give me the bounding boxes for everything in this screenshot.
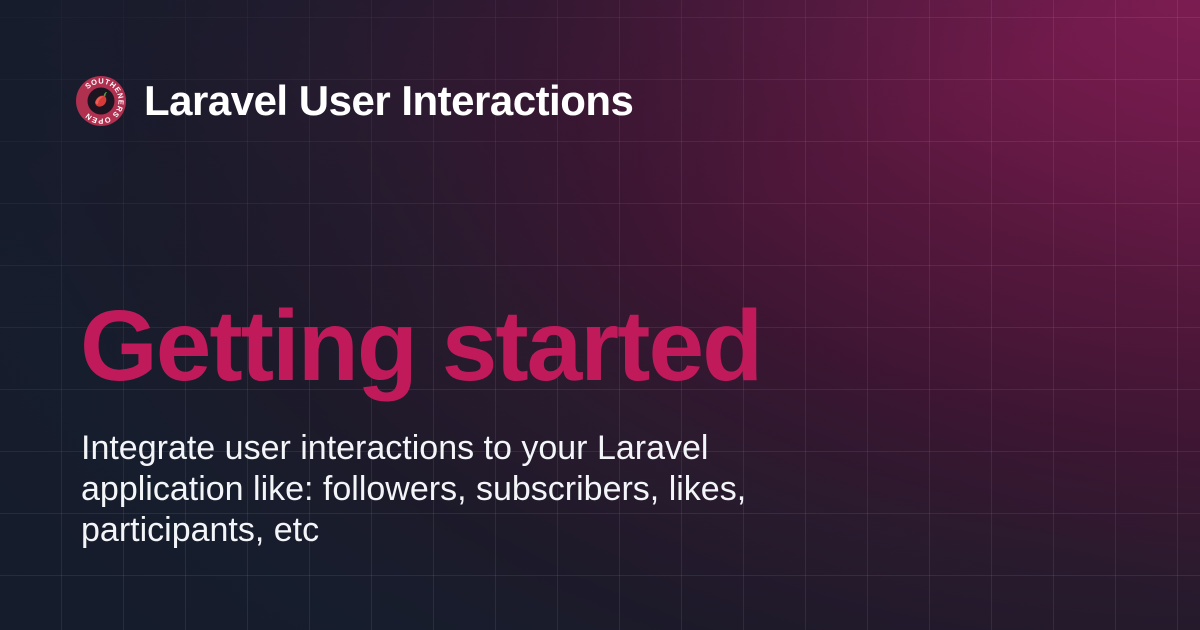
brand-title: Laravel User Interactions — [144, 80, 633, 122]
description-line: participants, etc — [81, 510, 871, 551]
card-content: SOUTHENERS OPEN Laravel User Interaction… — [0, 0, 1200, 630]
southerners-open-chili-badge-icon: SOUTHENERS OPEN — [76, 76, 126, 126]
og-card: SOUTHENERS OPEN Laravel User Interaction… — [0, 0, 1200, 630]
brand-row: SOUTHENERS OPEN Laravel User Interaction… — [76, 76, 633, 126]
page-headline: Getting started — [80, 296, 761, 396]
page-description: Integrate user interactions to your Lara… — [81, 428, 871, 551]
description-line: Integrate user interactions to your Lara… — [81, 428, 871, 469]
description-line: application like: followers, subscribers… — [81, 469, 871, 510]
